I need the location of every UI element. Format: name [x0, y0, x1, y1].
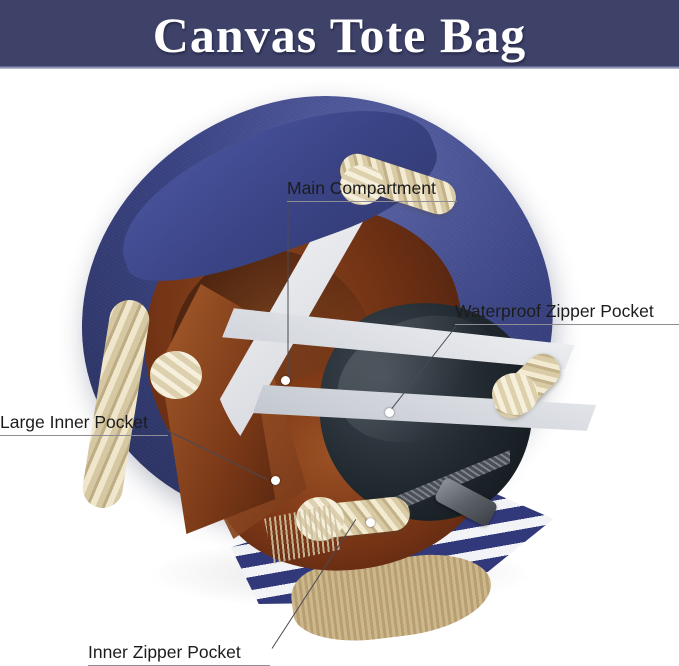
callout-rule-main-compartment — [287, 201, 457, 202]
callout-waterproof-zipper-pocket: Waterproof Zipper Pocket — [455, 301, 679, 325]
page-title: Canvas Tote Bag — [153, 10, 526, 60]
callout-rule-waterproof-zipper-pocket — [455, 324, 679, 325]
leader-line-main-compartment — [288, 196, 289, 382]
callout-label-large-inner-pocket: Large Inner Pocket — [0, 412, 168, 432]
callout-rule-large-inner-pocket — [0, 435, 168, 436]
marker-dot-waterproof-zipper-pocket — [385, 408, 394, 417]
marker-dot-large-inner-pocket — [271, 476, 280, 485]
callout-label-main-compartment: Main Compartment — [287, 178, 457, 198]
callout-main-compartment: Main Compartment — [287, 178, 457, 202]
header-banner: Canvas Tote Bag — [0, 0, 679, 69]
callout-label-inner-zipper-pocket: Inner Zipper Pocket — [88, 642, 270, 662]
marker-dot-main-compartment — [281, 376, 290, 385]
rope-knot-left — [150, 351, 202, 399]
callout-label-waterproof-zipper-pocket: Waterproof Zipper Pocket — [455, 301, 679, 321]
marker-dot-inner-zipper-pocket — [366, 518, 375, 527]
callout-large-inner-pocket: Large Inner Pocket — [0, 412, 168, 436]
callout-inner-zipper-pocket: Inner Zipper Pocket — [88, 642, 270, 666]
rope-knot-right — [492, 373, 538, 415]
product-photo: Main Compartment Waterproof Zipper Pocke… — [0, 69, 679, 623]
